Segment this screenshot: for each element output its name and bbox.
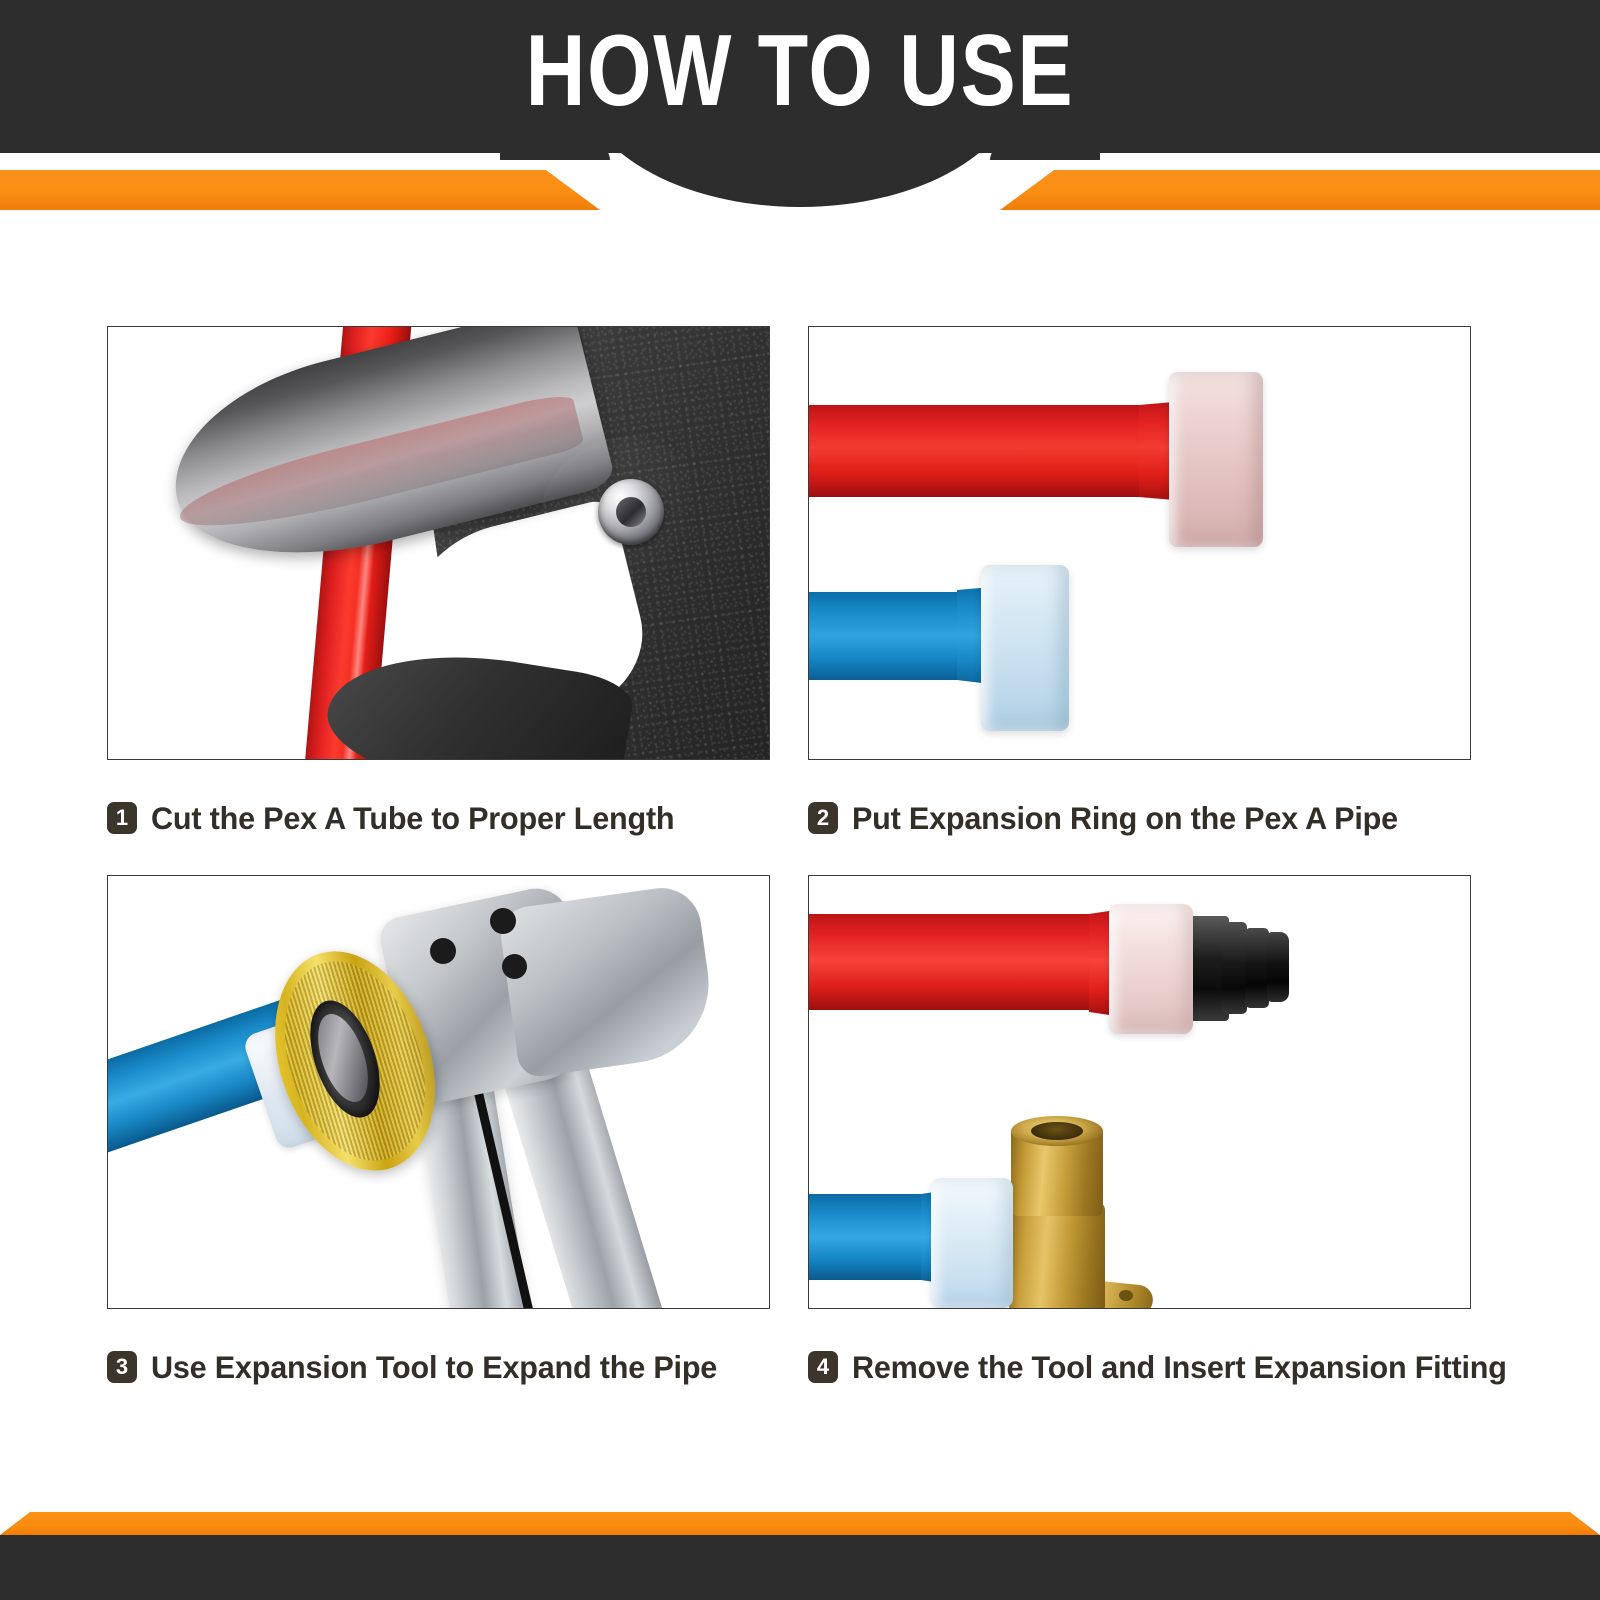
step-card-1: 1 Cut the Pex A Tube to Proper Length xyxy=(107,326,772,838)
red-pex-pipe xyxy=(808,405,1155,497)
step-4-photo xyxy=(808,875,1471,1309)
step-3-caption: 3 Use Expansion Tool to Expand the Pipe xyxy=(107,1347,772,1387)
step-1-number-badge: 1 xyxy=(107,802,137,834)
black-fitting-barb xyxy=(1267,932,1289,1002)
step-1-caption-text: Cut the Pex A Tube to Proper Length xyxy=(151,800,674,837)
tool-pivot-hole xyxy=(430,938,456,964)
step-4-number-badge: 4 xyxy=(808,1351,838,1383)
blue-expansion-ring xyxy=(931,1178,1013,1308)
tool-pivot-hole xyxy=(490,908,516,934)
step-card-3: 3 Use Expansion Tool to Expand the Pipe xyxy=(107,875,772,1387)
step-2-number-badge: 2 xyxy=(808,802,838,834)
step-3-caption-text: Use Expansion Tool to Expand the Pipe xyxy=(151,1349,717,1386)
red-expansion-ring xyxy=(1109,904,1193,1034)
step-3-number-badge: 3 xyxy=(107,1351,137,1383)
steps-grid: 1 Cut the Pex A Tube to Proper Length 2 … xyxy=(0,300,1600,1440)
step-3-photo xyxy=(107,875,770,1309)
step-2-caption: 2 Put Expansion Ring on the Pex A Pipe xyxy=(808,798,1473,838)
footer-dark-bar xyxy=(0,1535,1600,1600)
header-accent-bar-left xyxy=(0,170,600,210)
step-card-4: 4 Remove the Tool and Insert Expansion F… xyxy=(808,875,1473,1387)
step-4-caption: 4 Remove the Tool and Insert Expansion F… xyxy=(808,1347,1473,1387)
brass-elbow-body xyxy=(1009,1202,1105,1309)
page-title: HOW TO USE xyxy=(144,12,1456,131)
brass-elbow-socket-bore xyxy=(1031,1122,1083,1140)
step-1-photo xyxy=(107,326,770,760)
step-2-caption-text: Put Expansion Ring on the Pex A Pipe xyxy=(852,800,1398,837)
red-pex-pipe xyxy=(808,914,1095,1010)
page-header: HOW TO USE xyxy=(0,0,1600,230)
blue-expansion-ring xyxy=(981,565,1069,731)
tool-pivot-hole xyxy=(502,954,527,979)
step-1-caption: 1 Cut the Pex A Tube to Proper Length xyxy=(107,798,772,838)
black-fitting-barb xyxy=(1245,928,1269,1008)
step-card-2: 2 Put Expansion Ring on the Pex A Pipe xyxy=(808,326,1473,838)
expansion-tool-head-rear xyxy=(497,883,719,1079)
footer-accent-bar xyxy=(0,1512,1600,1535)
red-expansion-ring xyxy=(1169,372,1263,547)
step-2-photo xyxy=(808,326,1471,760)
blue-pex-pipe xyxy=(808,592,963,680)
step-4-caption-text: Remove the Tool and Insert Expansion Fit… xyxy=(852,1349,1507,1386)
blue-pex-pipe xyxy=(808,1194,925,1280)
cutter-pivot-rivet-center xyxy=(616,497,646,527)
header-accent-bar-right xyxy=(1000,170,1600,210)
black-fitting-barb xyxy=(1221,922,1247,1014)
